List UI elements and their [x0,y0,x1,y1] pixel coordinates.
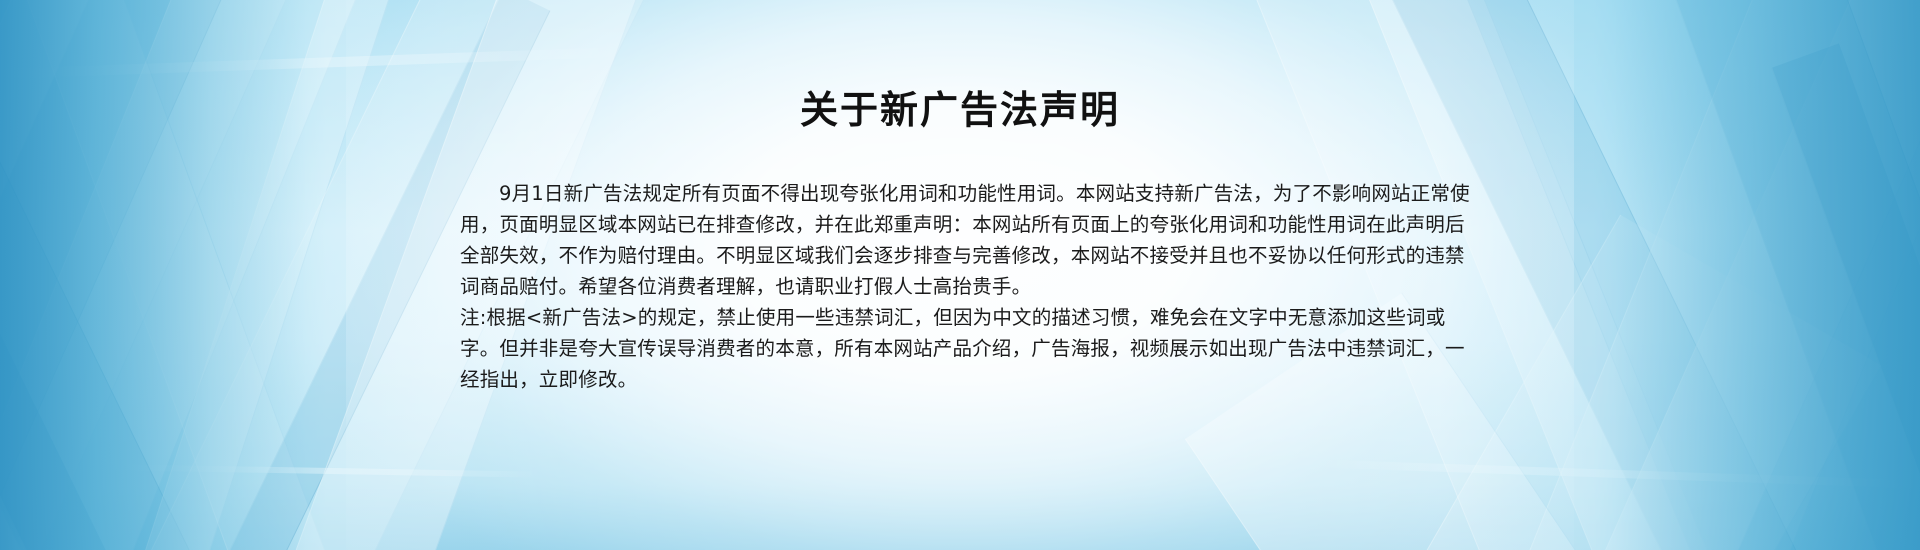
banner-content: 关于新广告法声明 9月1日新广告法规定所有页面不得出现夸张化用词和功能性用词。本… [0,0,1920,550]
statement-paragraph-2: 注:根据<新广告法>的规定，禁止使用一些违禁词汇，但因为中文的描述习惯，难免会在… [460,302,1470,395]
page-title: 关于新广告法声明 [0,88,1920,132]
statement-body: 9月1日新广告法规定所有页面不得出现夸张化用词和功能性用词。本网站支持新广告法，… [460,178,1470,395]
statement-paragraph-1: 9月1日新广告法规定所有页面不得出现夸张化用词和功能性用词。本网站支持新广告法，… [460,178,1470,302]
advertising-law-statement-banner: 关于新广告法声明 9月1日新广告法规定所有页面不得出现夸张化用词和功能性用词。本… [0,0,1920,550]
